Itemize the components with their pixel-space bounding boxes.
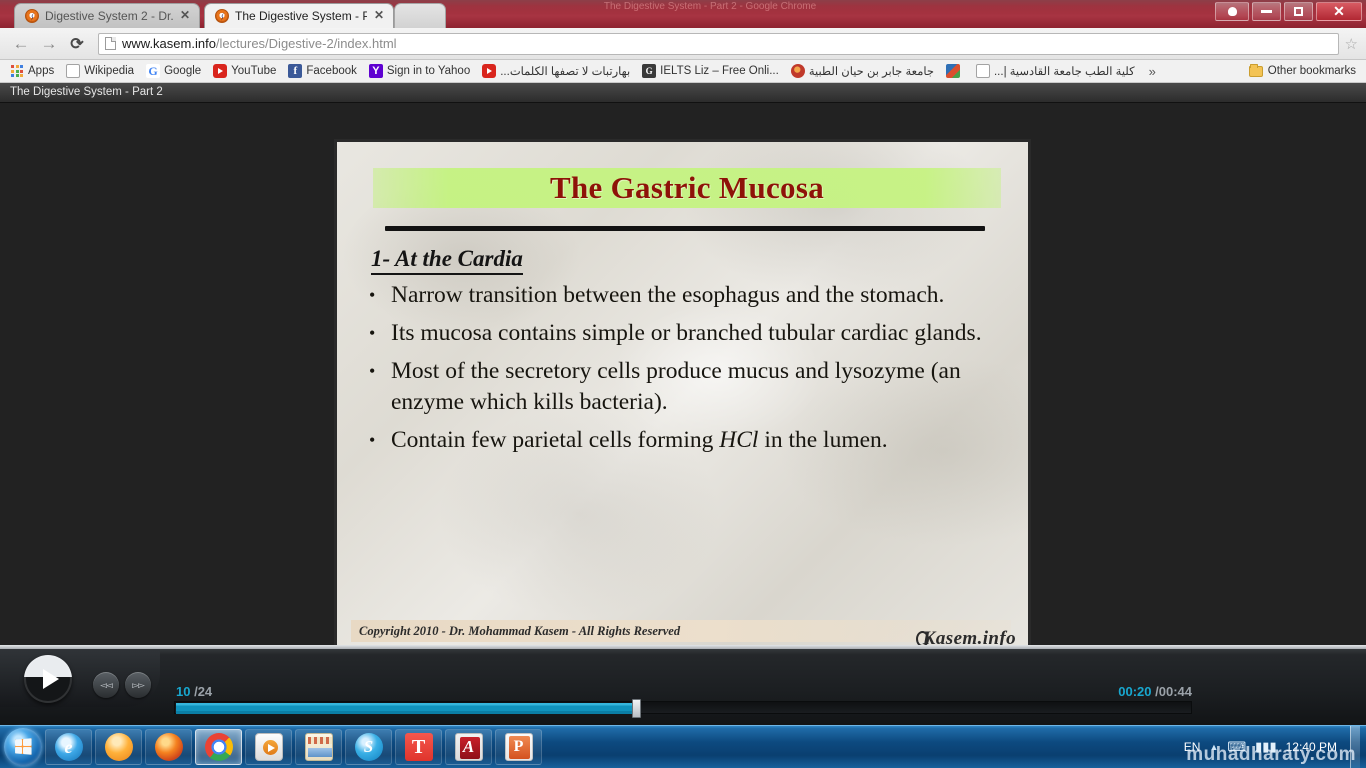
google-g-icon: G xyxy=(146,64,160,78)
restore-icon xyxy=(1294,7,1303,16)
bullet-text: Most of the secretory cells produce mucu… xyxy=(391,356,999,418)
google-chrome-icon xyxy=(205,733,233,761)
screen: The Digestive System - Part 2 - Google C… xyxy=(0,0,1366,768)
multicolor-icon xyxy=(946,64,960,78)
bookmark-label: Sign in to Yahoo xyxy=(387,65,470,77)
ielts-icon: G xyxy=(642,64,656,78)
presentation-header: The Digestive System - Part 2 xyxy=(0,83,1366,103)
taskbar-item-t-app[interactable]: T xyxy=(395,729,442,765)
play-icon xyxy=(43,669,59,689)
folder-icon xyxy=(1249,66,1263,77)
progress-fill xyxy=(176,703,637,714)
windows-taskbar: e S T A P EN ▲ ⌨ ▮▮▮ 12:40 PM muhadharat… xyxy=(0,725,1366,768)
title-divider xyxy=(385,226,985,231)
bookmark-youtube[interactable]: YouTube xyxy=(207,62,282,81)
bookmark-label: جامعة جابر بن حيان الطبية xyxy=(809,64,934,78)
user-account-button[interactable] xyxy=(1215,2,1249,21)
tray-expand-icon[interactable]: ▲ xyxy=(1209,742,1218,752)
bookmark-label: YouTube xyxy=(231,65,276,77)
person-icon xyxy=(1228,7,1237,16)
play-button[interactable] xyxy=(24,655,72,703)
slide: The Gastric Mucosa 1- At the Cardia • Na… xyxy=(334,139,1031,661)
page-icon xyxy=(976,64,990,78)
media-player-icon xyxy=(255,733,283,761)
opera-browser-icon xyxy=(105,733,133,761)
bookmark-arabic-3[interactable]: كلية الطب جامعة القادسية |... xyxy=(970,62,1141,81)
next-slide-button[interactable]: ▻▻ xyxy=(125,672,151,698)
playback-controls: ◅◅ ▻▻ xyxy=(0,649,160,707)
page-info-icon[interactable] xyxy=(105,37,116,50)
bookmark-label: Wikipedia xyxy=(84,65,134,77)
taskbar-item-media-player[interactable] xyxy=(245,729,292,765)
bookmark-multicolor[interactable] xyxy=(940,62,970,81)
page-icon xyxy=(66,64,80,78)
bookmark-wikipedia[interactable]: Wikipedia xyxy=(60,62,140,81)
other-bookmarks-folder[interactable]: Other bookmarks xyxy=(1249,65,1362,77)
bookmark-arabic-1[interactable]: بهارتبات لا تصفها الكلمات... xyxy=(476,62,636,81)
presentation-stage: The Gastric Mucosa 1- At the Cardia • Na… xyxy=(0,103,1366,725)
tab-close-icon[interactable]: ✕ xyxy=(179,10,191,22)
slide-title: The Gastric Mucosa xyxy=(373,168,1001,208)
facebook-icon: f xyxy=(288,64,302,78)
slide-bullet-list: • Narrow transition between the esophagu… xyxy=(369,280,999,463)
bookmark-star-icon[interactable]: ☆ xyxy=(1345,35,1358,53)
windows-explorer-icon xyxy=(305,733,333,761)
bookmark-yahoo[interactable]: Y Sign in to Yahoo xyxy=(363,62,476,81)
taskbar-item-chrome[interactable] xyxy=(195,729,242,765)
minimize-icon xyxy=(1261,10,1272,13)
bullet-text: Its mucosa contains simple or branched t… xyxy=(391,318,999,349)
bookmark-label: بهارتبات لا تصفها الكلمات... xyxy=(500,64,630,78)
bullet-text-post: in the lumen. xyxy=(758,427,887,453)
bullet-item: • Contain few parietal cells forming HCl… xyxy=(369,425,999,456)
bookmarks-bar: Apps Wikipedia G Google YouTube f Facebo… xyxy=(0,60,1366,83)
window-title-bar: The Digestive System - Part 2 - Google C… xyxy=(0,0,1366,28)
bookmark-label: Google xyxy=(164,65,201,77)
volume-tray-icon[interactable]: ▮▮▮ xyxy=(1255,739,1276,755)
slide-total: /24 xyxy=(194,684,212,699)
taskbar-item-firefox[interactable] xyxy=(145,729,192,765)
youtube-icon xyxy=(482,64,496,78)
url-text: www.kasem.info/lectures/Digestive-2/inde… xyxy=(122,36,397,51)
close-button[interactable]: ✕ xyxy=(1316,2,1362,21)
tab-favicon xyxy=(25,9,39,23)
adobe-reader-icon: A xyxy=(455,733,483,761)
language-indicator[interactable]: EN xyxy=(1184,740,1201,754)
tab-favicon xyxy=(215,9,229,23)
firefox-browser-icon xyxy=(155,733,183,761)
slide-current: 10 xyxy=(176,684,190,699)
start-button[interactable] xyxy=(4,728,42,766)
time-counter: 00:20 /00:44 xyxy=(1118,684,1192,699)
show-desktop-button[interactable] xyxy=(1350,726,1360,768)
bookmark-arabic-2[interactable]: جامعة جابر بن حيان الطبية xyxy=(785,62,940,81)
keyboard-icon[interactable]: ⌨ xyxy=(1227,739,1246,755)
youtube-icon xyxy=(213,64,227,78)
bookmark-facebook[interactable]: f Facebook xyxy=(282,62,363,81)
skype-icon: S xyxy=(355,733,383,761)
maximize-button[interactable] xyxy=(1284,2,1313,21)
bullet-item: • Narrow transition between the esophagu… xyxy=(369,280,999,311)
bullet-item: • Most of the secretory cells produce mu… xyxy=(369,356,999,418)
bookmark-apps[interactable]: Apps xyxy=(4,62,60,81)
slide-footer: Copyright 2010 - Dr. Mohammad Kasem - Al… xyxy=(351,620,1011,642)
back-button[interactable]: ← xyxy=(8,31,34,57)
taskbar-item-skype[interactable]: S xyxy=(345,729,392,765)
browser-tab-inactive[interactable]: Digestive System 2 - Dr. K ✕ xyxy=(14,3,200,28)
yahoo-icon: Y xyxy=(369,64,383,78)
bookmark-label: IELTS Liz – Free Onli... xyxy=(660,65,779,77)
window-title-text: The Digestive System - Part 2 - Google C… xyxy=(500,1,920,13)
bookmark-label: Apps xyxy=(28,65,54,77)
new-tab-button[interactable] xyxy=(394,3,446,28)
bookmark-label: Facebook xyxy=(306,65,357,77)
bullet-text: Narrow transition between the esophagus … xyxy=(391,280,999,311)
taskbar-item-opera[interactable] xyxy=(95,729,142,765)
t-application-icon: T xyxy=(405,733,433,761)
slide-subheading: 1- At the Cardia xyxy=(371,246,523,275)
bookmark-ielts[interactable]: G IELTS Liz – Free Onli... xyxy=(636,62,785,81)
presentation-title: The Digestive System - Part 2 xyxy=(10,86,163,98)
apps-grid-icon xyxy=(10,64,24,78)
previous-slide-button[interactable]: ◅◅ xyxy=(93,672,119,698)
browser-tab-active[interactable]: The Digestive System - Pa ✕ xyxy=(204,3,394,28)
other-bookmarks-label: Other bookmarks xyxy=(1268,65,1356,77)
window-controls: ✕ xyxy=(1215,2,1362,21)
internet-explorer-icon: e xyxy=(55,733,83,761)
bookmarks-overflow-icon[interactable]: » xyxy=(1141,64,1164,79)
system-tray: EN ▲ ⌨ ▮▮▮ 12:40 PM xyxy=(1184,726,1366,768)
clock[interactable]: 12:40 PM xyxy=(1286,740,1341,754)
bookmark-label: كلية الطب جامعة القادسية |... xyxy=(994,64,1135,78)
forward-button[interactable]: → xyxy=(36,31,62,57)
tab-title: The Digestive System - Pa xyxy=(235,9,367,23)
browser-window: The Digestive System - Part 2 - Google C… xyxy=(0,0,1366,725)
bullet-text-rich: Contain few parietal cells forming HCl i… xyxy=(391,425,999,456)
slide-counter: 10 /24 xyxy=(176,684,212,699)
minimize-button[interactable] xyxy=(1252,2,1281,21)
bullet-item: • Its mucosa contains simple or branched… xyxy=(369,318,999,349)
tab-close-icon[interactable]: ✕ xyxy=(373,10,385,22)
taskbar-item-explorer[interactable] xyxy=(295,729,342,765)
progress-scrubber[interactable] xyxy=(174,701,1192,714)
bullet-marker: • xyxy=(369,318,379,349)
time-total: /00:44 xyxy=(1155,684,1192,699)
address-bar[interactable]: www.kasem.info/lectures/Digestive-2/inde… xyxy=(98,33,1339,55)
url-path: /lectures/Digestive-2/index.html xyxy=(216,36,397,51)
taskbar-item-powerpoint[interactable]: P xyxy=(495,729,542,765)
browser-toolbar: ← → ⟳ www.kasem.info/lectures/Digestive-… xyxy=(0,28,1366,60)
bullet-text-emphasis: HCl xyxy=(719,427,758,453)
page-content: The Digestive System - Part 2 The Gastri… xyxy=(0,83,1366,725)
taskbar-item-internet-explorer[interactable]: e xyxy=(45,729,92,765)
powerpoint-icon: P xyxy=(505,733,533,761)
player-top-rail xyxy=(0,645,1366,649)
red-drop-icon xyxy=(791,64,805,78)
bullet-marker: • xyxy=(369,425,379,456)
bullet-text-pre: Contain few parietal cells forming xyxy=(391,427,719,453)
bullet-marker: • xyxy=(369,356,379,418)
bookmark-google[interactable]: G Google xyxy=(140,62,207,81)
copyright-text: Copyright 2010 - Dr. Mohammad Kasem - Al… xyxy=(351,624,680,639)
reload-button[interactable]: ⟳ xyxy=(64,31,90,57)
windows-logo-icon xyxy=(15,738,31,755)
progress-handle[interactable] xyxy=(632,699,641,718)
tab-title: Digestive System 2 - Dr. K xyxy=(45,9,173,23)
url-domain: www.kasem.info xyxy=(122,36,216,51)
taskbar-item-adobe-reader[interactable]: A xyxy=(445,729,492,765)
time-current: 00:20 xyxy=(1118,684,1151,699)
bullet-marker: • xyxy=(369,280,379,311)
